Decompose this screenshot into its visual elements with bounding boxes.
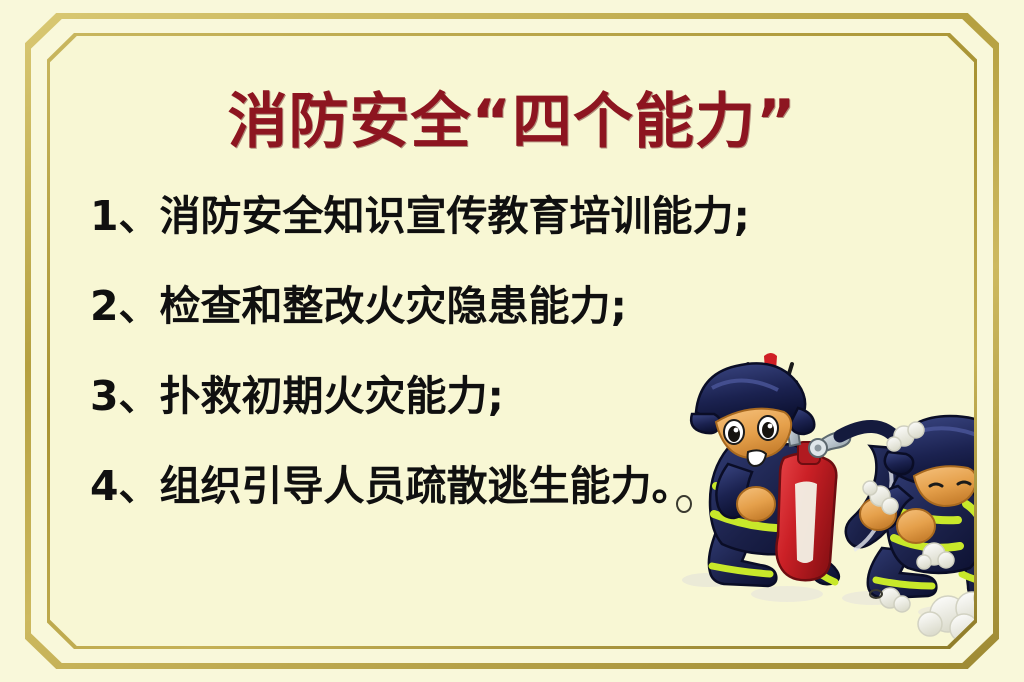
page-title: 消防安全“四个能力” (50, 92, 974, 152)
list-item: 2、检查和整改火灾隐患能力; (90, 286, 934, 327)
bubble-decor (677, 496, 882, 598)
list-item: 4、组织引导人员疏散逃生能力。 (90, 466, 934, 507)
foam-ground (682, 573, 962, 618)
poster-content-area: 消防安全“四个能力” 1、消防安全知识宣传教育培训能力; 2、检查和整改火灾隐患… (50, 36, 974, 646)
list-item: 3、扑救初期火灾能力; (90, 376, 934, 417)
list-item: 1、消防安全知识宣传教育培训能力; (90, 196, 934, 237)
capability-list: 1、消防安全知识宣传教育培训能力; 2、检查和整改火灾隐患能力; 3、扑救初期火… (90, 196, 934, 507)
poster-canvas: 消防安全“四个能力” 1、消防安全知识宣传教育培训能力; 2、检查和整改火灾隐患… (0, 0, 1024, 682)
